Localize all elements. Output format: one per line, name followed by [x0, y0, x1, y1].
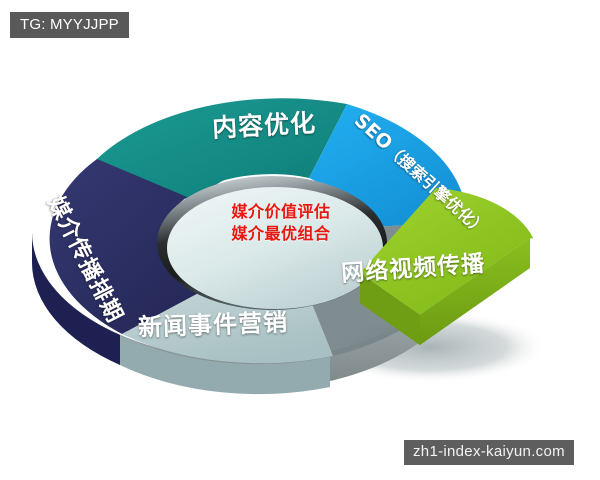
site-watermark: zh1-index-kaiyun.com: [404, 440, 574, 465]
donut-hole-fill: [167, 187, 383, 309]
tg-watermark-badge: TG: MYYJJPP: [10, 12, 129, 38]
image-canvas: 内容优化 SEO（搜索引擎优化） 媒介传播排期 新闻事件营销 网络视频传播 媒介…: [0, 0, 600, 480]
donut-chart-graphic: [0, 0, 600, 480]
